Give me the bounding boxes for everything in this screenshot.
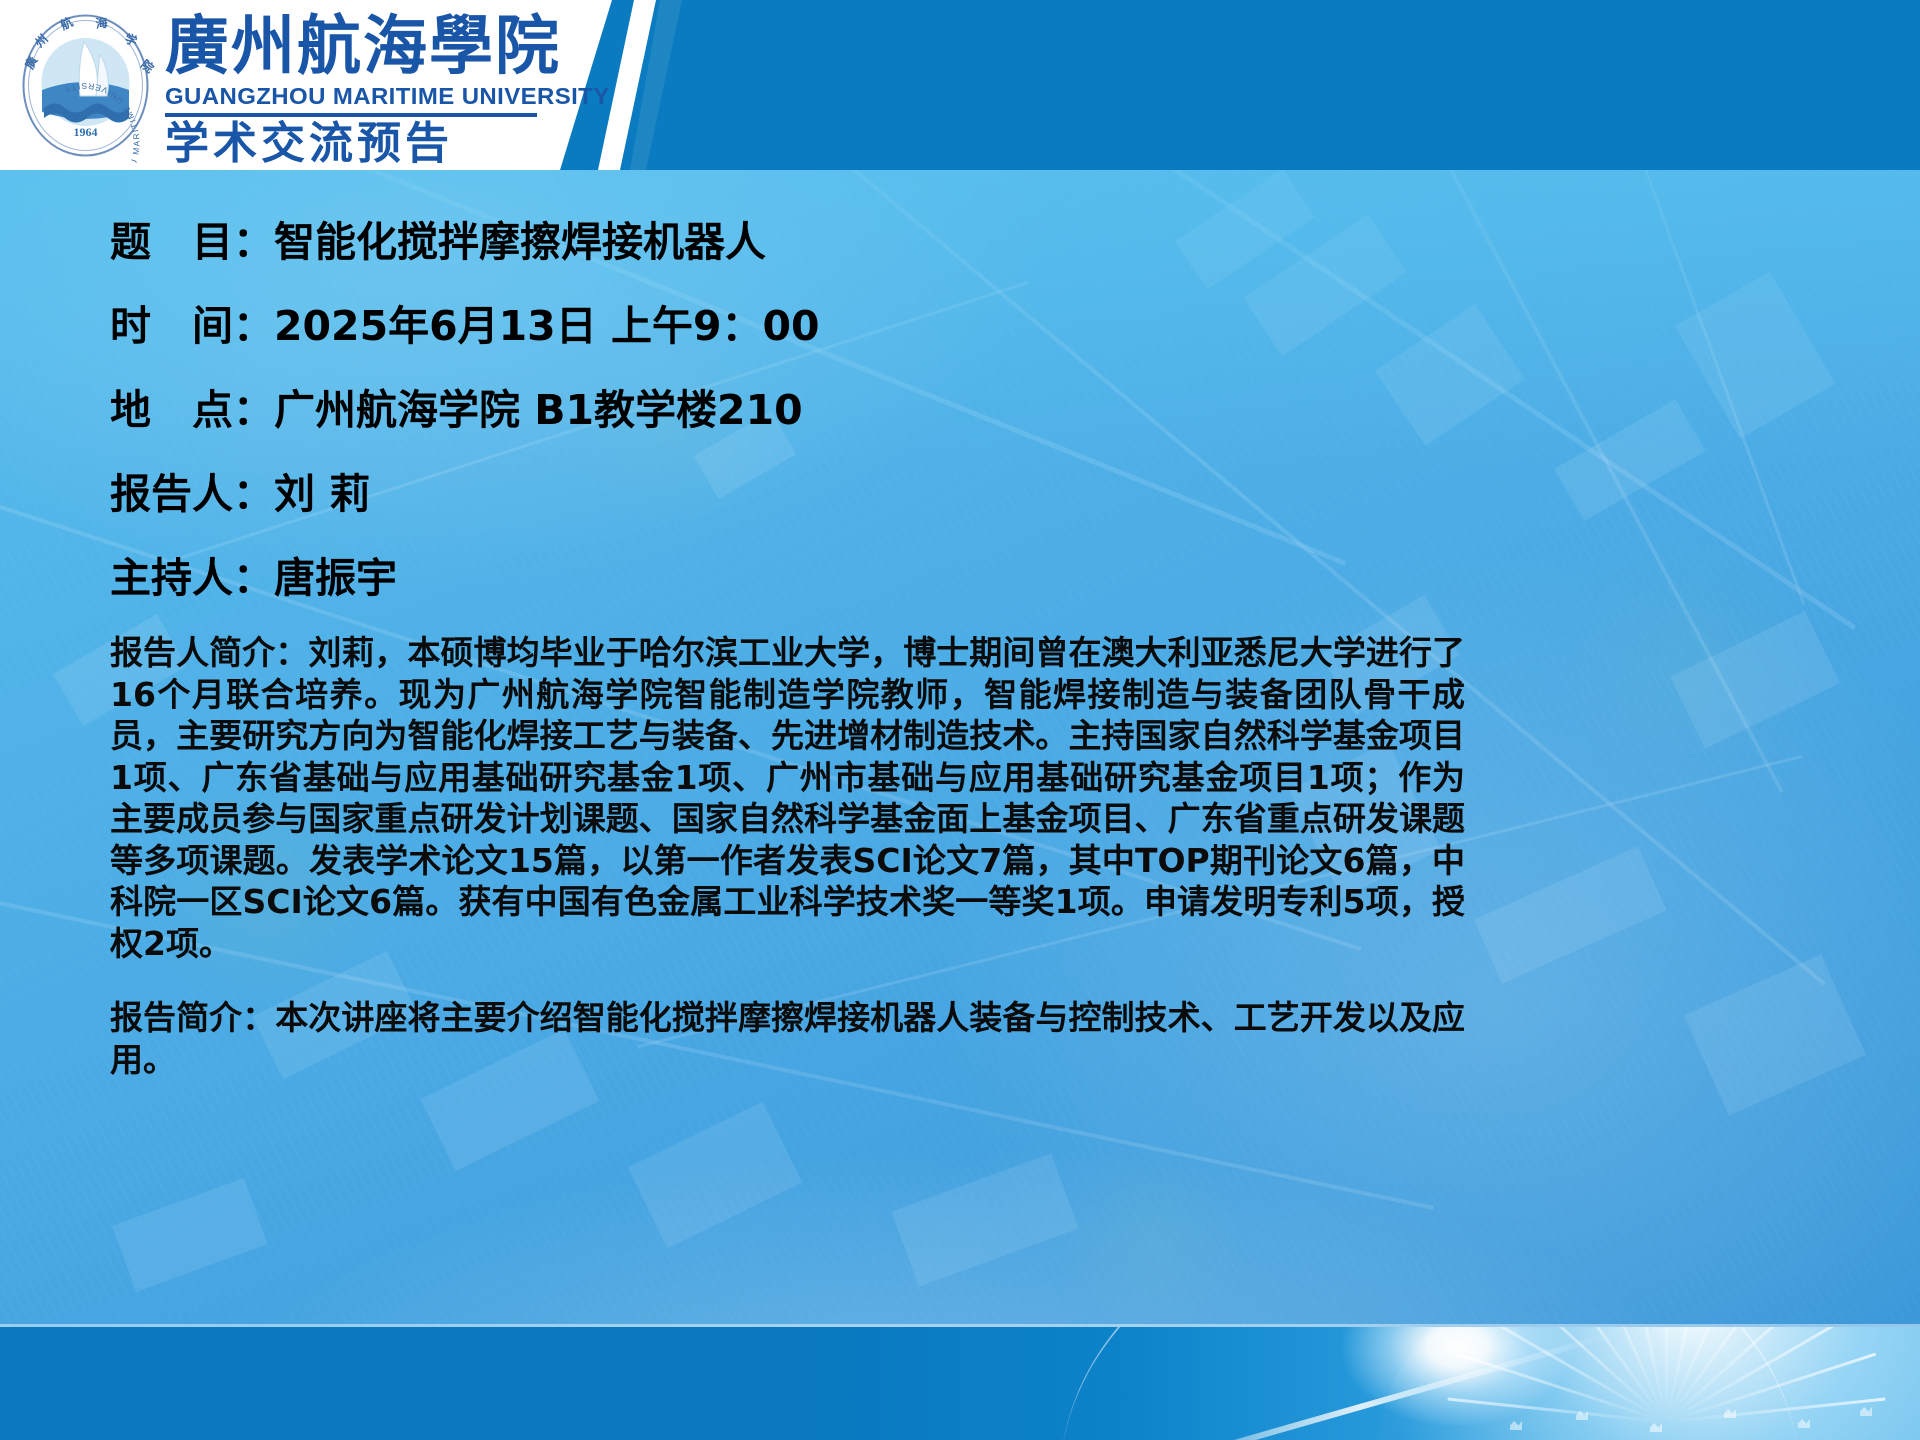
brand-divider [165,113,537,117]
event-info-list: 题 目： 智能化搅拌摩擦焊接机器人 时 间： 2025年6月13日 上午9：00… [110,200,1510,620]
poster-type-label: 学术交流预告 [165,119,585,169]
speaker-bio-lead: 报告人简介： [110,633,308,672]
svg-text:海: 海 [95,15,109,31]
talk-abstract-paragraph: 报告简介：本次讲座将主要介绍智能化搅拌摩擦焊接机器人装备与控制技术、工艺开发以及… [110,997,1465,1080]
info-label-host: 主持人： [110,536,274,620]
info-label-location: 地 点： [110,368,274,452]
university-name-cn: 廣州航海學院 [165,12,585,82]
footer-sparkle-icons [1480,1394,1900,1434]
logo-year: 1964 [74,125,98,139]
info-row-host: 主持人： 唐振宇 [110,536,1510,620]
university-name-en: GUANGZHOU MARITIME UNIVERSITY [165,82,593,110]
info-value-time: 2025年6月13日 上午9：00 [274,284,820,368]
info-row-speaker: 报告人： 刘 莉 [110,452,1510,536]
poster-root: 1964 GUANGZHOU MARITIME UNIVERSITY 廣 州 航… [0,0,1920,1440]
speaker-bio-paragraph: 报告人简介：刘莉，本硕博均毕业于哈尔滨工业大学，博士期间曾在澳大利亚悉尼大学进行… [110,632,1465,964]
info-value-speaker: 刘 莉 [274,452,370,536]
speaker-bio-body: 刘莉，本硕博均毕业于哈尔滨工业大学，博士期间曾在澳大利亚悉尼大学进行了16个月联… [110,633,1465,963]
talk-abstract-body: 本次讲座将主要介绍智能化搅拌摩擦焊接机器人装备与控制技术、工艺开发以及应用。 [110,998,1465,1079]
info-value-title: 智能化搅拌摩擦焊接机器人 [274,200,766,284]
university-logo-icon: 1964 GUANGZHOU MARITIME UNIVERSITY 廣 州 航… [8,8,163,163]
info-row-location: 地 点： 广州航海学院 B1教学楼210 [110,368,1510,452]
footer-band [0,1327,1920,1440]
brand-lockup: 廣州航海學院 GUANGZHOU MARITIME UNIVERSITY 学术交… [165,12,585,169]
poster-body: 题 目： 智能化搅拌摩擦焊接机器人 时 间： 2025年6月13日 上午9：00… [0,170,1920,1330]
info-row-time: 时 间： 2025年6月13日 上午9：00 [110,284,1510,368]
info-label-title: 题 目： [110,200,274,284]
info-label-speaker: 报告人： [110,452,274,536]
talk-abstract-lead: 报告简介： [110,998,275,1037]
info-label-time: 时 间： [110,284,274,368]
info-value-location: 广州航海学院 B1教学楼210 [274,368,803,452]
info-row-title: 题 目： 智能化搅拌摩擦焊接机器人 [110,200,1510,284]
info-value-host: 唐振宇 [274,536,397,620]
